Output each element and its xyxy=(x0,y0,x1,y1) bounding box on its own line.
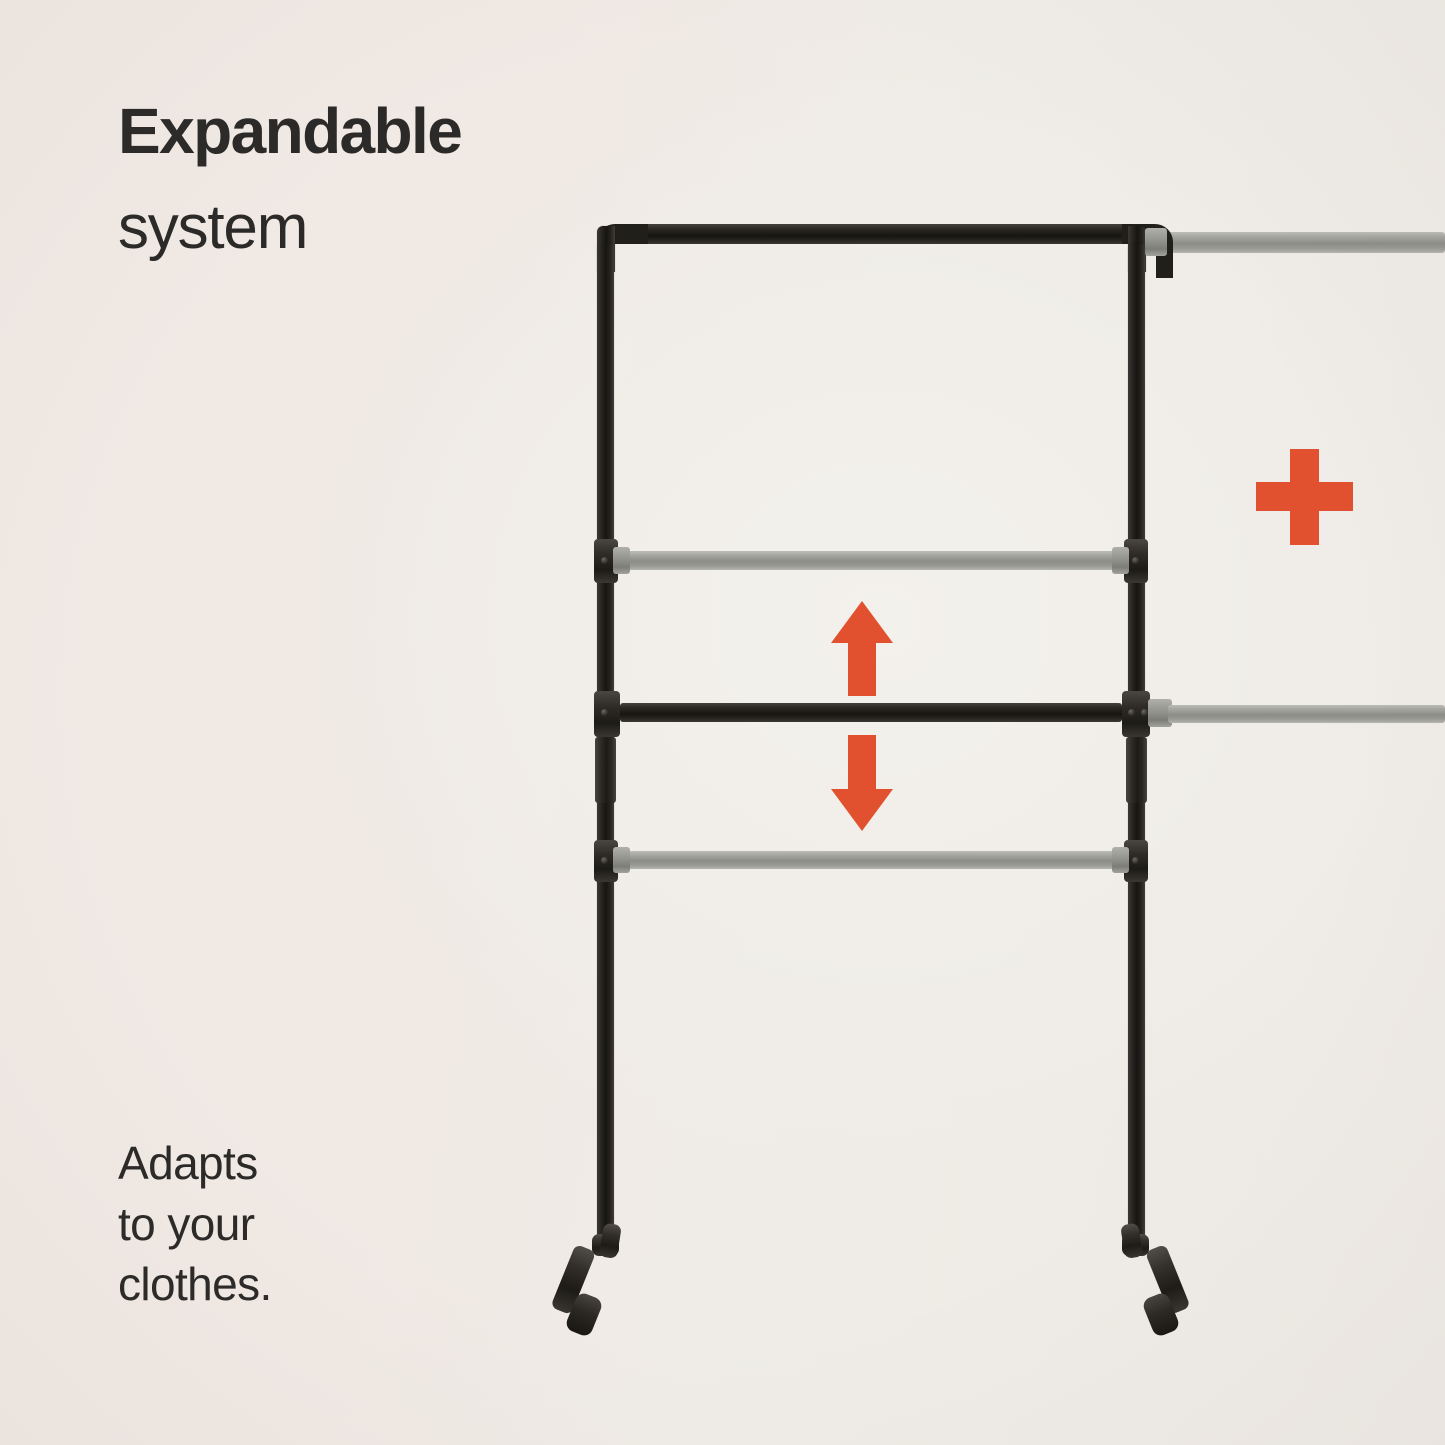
caption-line-3: clothes. xyxy=(118,1254,272,1315)
subheadline: system xyxy=(118,197,307,259)
caption-line-1: Adapts xyxy=(118,1133,272,1194)
lower-gray-hanging-rail xyxy=(620,851,1120,869)
lower-rail-collar-left xyxy=(613,847,630,873)
upper-rail-collar-right xyxy=(1112,547,1129,574)
caption-line-2: to your xyxy=(118,1194,272,1255)
lower-rail-screw-right xyxy=(1132,857,1139,864)
middle-rail-screw-left xyxy=(601,709,608,716)
caption-block: Adapts to your clothes. xyxy=(118,1133,272,1315)
top-gray-extension-bar xyxy=(1148,232,1445,253)
upper-gray-hanging-rail xyxy=(620,551,1120,570)
right-post-sleeve xyxy=(1126,737,1147,803)
top-black-rail xyxy=(618,224,1134,244)
lower-rail-screw-left xyxy=(601,857,608,864)
lower-rail-collar-right xyxy=(1112,847,1129,873)
middle-rail-screw-right-b xyxy=(1141,709,1148,716)
middle-rail-screw-right-a xyxy=(1128,709,1135,716)
middle-gray-extension-bar xyxy=(1168,705,1445,723)
upper-rail-collar-left xyxy=(613,547,630,574)
left-post-sleeve xyxy=(595,737,616,803)
left-foot-stub xyxy=(599,1223,622,1259)
middle-black-rail xyxy=(620,703,1122,722)
headline: Expandable xyxy=(118,99,461,163)
upper-rail-screw-left xyxy=(601,557,608,564)
upper-rail-screw-right xyxy=(1132,557,1139,564)
top-extension-coupler xyxy=(1145,228,1167,256)
marketing-image-canvas: Expandable system Adapts to your clothes… xyxy=(0,0,1445,1445)
